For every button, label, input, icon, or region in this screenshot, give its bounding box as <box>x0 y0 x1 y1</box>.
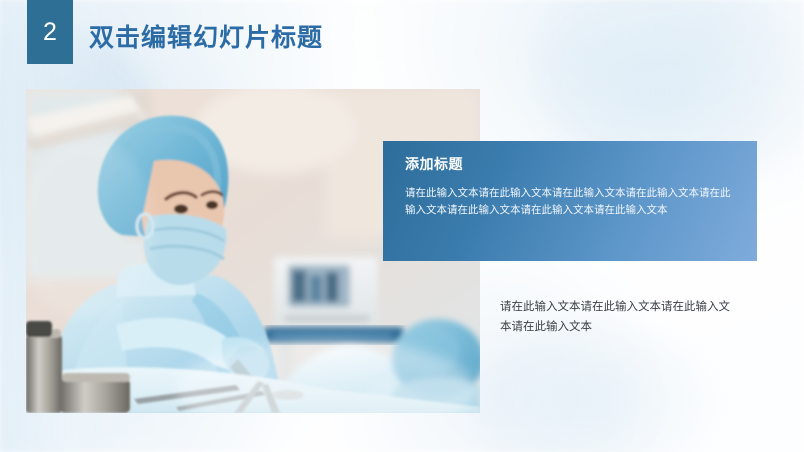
info-panel-body: 请在此输入文本请在此输入文本请在此输入文本请在此输入文本请在此输入文本请在此输入… <box>405 185 735 219</box>
slide-canvas: 2 双击编辑幻灯片标题 <box>0 0 804 452</box>
info-panel: 添加标题 请在此输入文本请在此输入文本请在此输入文本请在此输入文本请在此输入文本… <box>383 141 757 261</box>
slide-number-label: 2 <box>43 20 57 45</box>
lower-text-block: 请在此输入文本请在此输入文本请在此输入文本请在此输入文本 <box>500 297 730 337</box>
slide-title: 双击编辑幻灯片标题 <box>89 18 323 54</box>
slide-number-badge: 2 <box>27 0 73 64</box>
info-panel-title: 添加标题 <box>405 154 735 174</box>
